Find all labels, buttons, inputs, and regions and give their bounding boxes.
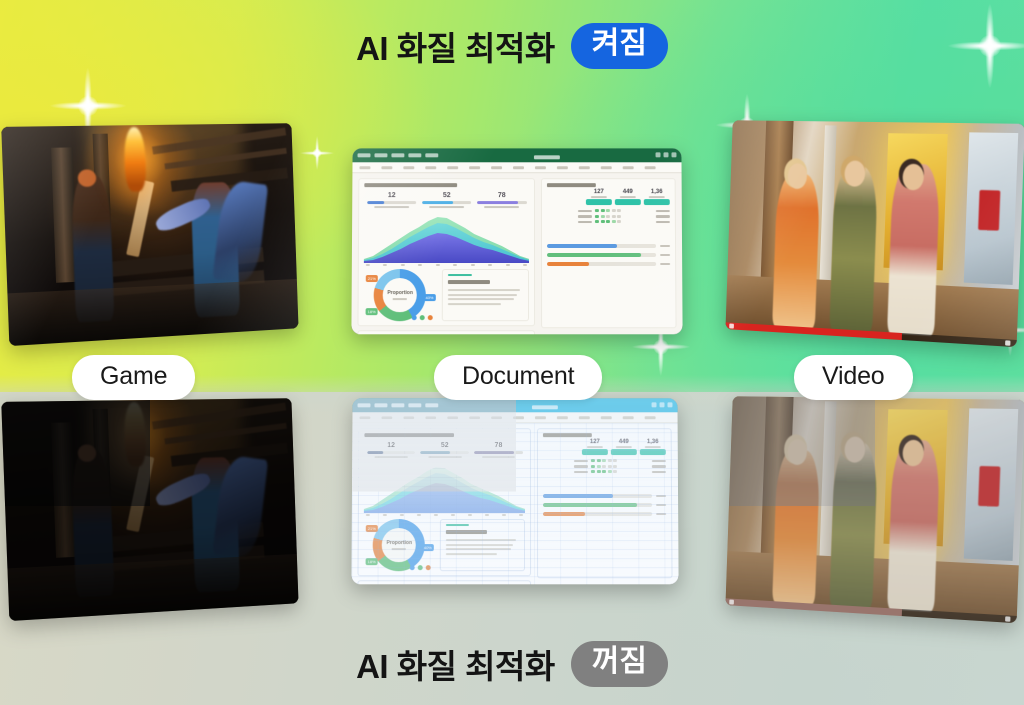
right-kpi-item: 1,36 bbox=[644, 190, 670, 206]
kpi-value: 12 bbox=[367, 443, 415, 450]
kpi-caption bbox=[374, 457, 408, 459]
kpi-item: 52 bbox=[421, 443, 469, 459]
dashboard-body: 12 52 78 bbox=[351, 174, 682, 335]
right-kpi-badge bbox=[586, 200, 612, 206]
dashboard-titlebar bbox=[352, 398, 677, 412]
game-scene-off bbox=[1, 398, 298, 621]
donut-chip: 18% bbox=[366, 309, 378, 316]
area-chart-energy bbox=[364, 212, 530, 264]
right-kpi-value: 127 bbox=[582, 440, 608, 446]
donut-chart-wrap: Proportion 21% 40% 18% bbox=[364, 269, 437, 321]
dashboard-body: 12 52 78 bbox=[351, 424, 678, 585]
right-kpi-caption bbox=[587, 447, 603, 449]
right-kpi-row: 127 449 bbox=[578, 190, 670, 206]
video-person-1 bbox=[772, 174, 820, 329]
dashboard-ribbon[interactable] bbox=[352, 412, 677, 423]
panel-game-ai-off[interactable] bbox=[1, 398, 298, 621]
dashboard-left-column: 12 52 78 bbox=[357, 429, 531, 579]
panel-video-ai-off[interactable] bbox=[725, 396, 1024, 623]
progress-item bbox=[543, 512, 666, 516]
table-row bbox=[578, 215, 670, 218]
table-row bbox=[578, 210, 670, 213]
progress-item bbox=[547, 262, 670, 266]
panel-document-ai-off[interactable]: 12 52 78 bbox=[351, 398, 678, 584]
right-kpi-caption bbox=[620, 197, 636, 199]
kpi-value: 78 bbox=[474, 443, 522, 450]
donut-center-label: Proportion bbox=[387, 291, 413, 301]
kpi-bar bbox=[367, 452, 415, 455]
window-controls[interactable] bbox=[652, 403, 673, 408]
donut-legend bbox=[411, 316, 432, 321]
video-person-2-head bbox=[844, 160, 865, 186]
table-row bbox=[578, 220, 670, 223]
ai-off-darkening-overlay bbox=[1, 398, 298, 621]
right-kpi-badge bbox=[615, 200, 641, 206]
card-title-energy-trends bbox=[364, 184, 456, 188]
game-scene-on bbox=[1, 123, 298, 346]
right-kpi-value: 449 bbox=[615, 190, 641, 196]
kpi-bar bbox=[422, 202, 472, 205]
progress-item bbox=[547, 244, 670, 248]
right-kpi-badge bbox=[640, 450, 666, 456]
area-chart-axis bbox=[364, 513, 526, 516]
right-kpi-item: 127 bbox=[582, 440, 608, 456]
heading-bottom-title: AI 화질 최적화 bbox=[356, 640, 555, 688]
kpi-value: 52 bbox=[422, 193, 472, 200]
heading-top-title: AI 화질 최적화 bbox=[356, 22, 555, 70]
window-controls[interactable] bbox=[656, 153, 677, 158]
kpi-value: 78 bbox=[477, 193, 527, 200]
right-kpi-caption bbox=[645, 447, 661, 449]
kpi-item: 78 bbox=[477, 193, 527, 209]
donut-legend bbox=[410, 566, 431, 571]
note-body bbox=[446, 540, 520, 556]
dashboard-lower-row: Proportion 21% 40% 18% bbox=[364, 269, 530, 321]
progress-item bbox=[543, 503, 666, 507]
card-energy-rates bbox=[440, 519, 526, 571]
table-row bbox=[574, 470, 666, 473]
area-chart-energy bbox=[364, 462, 526, 514]
donut-chip: 40% bbox=[422, 545, 434, 552]
video-red-object bbox=[978, 190, 1001, 231]
video-person-2 bbox=[829, 167, 878, 332]
donut-chip: 21% bbox=[366, 525, 378, 532]
progress-item bbox=[543, 494, 666, 498]
kpi-caption bbox=[428, 457, 462, 459]
right-kpi-value: 127 bbox=[586, 190, 612, 196]
dashboard-left-column: 12 52 78 bbox=[357, 179, 535, 329]
kpi-bar bbox=[477, 202, 527, 205]
kpi-bar bbox=[421, 452, 469, 455]
right-kpi-caption bbox=[649, 197, 665, 199]
card-contract-trends: 127 449 bbox=[541, 179, 676, 329]
right-kpi-row: 127 449 bbox=[574, 440, 666, 456]
mini-table bbox=[578, 210, 670, 224]
video-fullscreen-button[interactable] bbox=[1005, 341, 1010, 346]
card-percentages: 30% +2.1% 27% +1.4% 35% +3 bbox=[357, 331, 535, 335]
card-contract-trends: 127 449 bbox=[537, 429, 672, 579]
kpi-row: 12 52 78 bbox=[364, 193, 529, 209]
right-kpi-badge bbox=[644, 200, 670, 206]
note-accent bbox=[446, 524, 470, 526]
status-badge-off: 꺼짐 bbox=[571, 641, 668, 686]
ai-off-washout-overlay bbox=[725, 396, 1024, 623]
kpi-caption bbox=[484, 207, 519, 209]
dashboard-on: 12 52 78 bbox=[351, 148, 682, 334]
dashboard-right-column: 127 449 bbox=[537, 429, 672, 579]
kpi-caption bbox=[429, 207, 464, 209]
kpi-row: 12 52 78 bbox=[364, 443, 525, 459]
kpi-bar bbox=[474, 452, 522, 455]
right-kpi-badge bbox=[611, 450, 637, 456]
right-kpi-item: 1,36 bbox=[640, 440, 666, 456]
right-kpi-value: 449 bbox=[611, 440, 637, 446]
kpi-bar bbox=[367, 202, 417, 205]
right-kpi-value: 1,36 bbox=[644, 190, 670, 196]
dashboard-off: 12 52 78 bbox=[351, 398, 678, 584]
heading-ai-off: AI 화질 최적화 꺼짐 bbox=[0, 640, 1024, 688]
video-scene-on bbox=[725, 120, 1024, 347]
kpi-caption bbox=[482, 457, 516, 459]
kpi-item: 12 bbox=[367, 193, 417, 209]
kpi-value: 52 bbox=[421, 443, 469, 450]
right-kpi-badge bbox=[582, 450, 608, 456]
progress-item bbox=[547, 253, 670, 257]
mini-table bbox=[574, 460, 666, 474]
card-title-energy-trends bbox=[364, 434, 454, 438]
note-accent bbox=[448, 274, 472, 276]
card-energy-trends: 12 52 78 bbox=[357, 179, 535, 327]
progress-list bbox=[547, 244, 670, 266]
kpi-value: 12 bbox=[367, 193, 417, 200]
titlebar-menu[interactable] bbox=[358, 403, 439, 407]
right-kpi-caption bbox=[591, 197, 607, 199]
right-kpi-item: 449 bbox=[611, 440, 637, 456]
right-kpi-value: 1,36 bbox=[640, 440, 666, 446]
bar-chart-contracts bbox=[543, 442, 570, 490]
status-badge-on: 켜짐 bbox=[571, 23, 668, 68]
dashboard-lower-row: Proportion 21% 40% 18% bbox=[364, 519, 526, 571]
progress-list bbox=[543, 494, 666, 516]
donut-chip: 40% bbox=[424, 295, 436, 302]
category-pill-video[interactable]: Video bbox=[794, 355, 913, 400]
video-play-button[interactable] bbox=[730, 324, 735, 329]
donut-chip: 18% bbox=[366, 559, 378, 566]
donut-chip: 21% bbox=[366, 275, 378, 282]
note-title bbox=[446, 531, 487, 535]
kpi-item: 78 bbox=[474, 443, 522, 459]
comparison-stage: AI 화질 최적화 켜짐 bbox=[0, 0, 1024, 705]
kpi-item: 12 bbox=[367, 443, 415, 459]
area-chart-axis bbox=[364, 263, 530, 266]
note-body bbox=[448, 290, 524, 306]
heading-ai-on: AI 화질 최적화 켜짐 bbox=[0, 22, 1024, 70]
card-energy-rates bbox=[442, 269, 530, 321]
table-row bbox=[574, 465, 666, 468]
note-title bbox=[448, 281, 490, 285]
right-kpi-item: 127 bbox=[586, 190, 612, 206]
panel-video-ai-on[interactable] bbox=[725, 120, 1024, 347]
kpi-caption bbox=[374, 207, 409, 209]
titlebar-menu[interactable] bbox=[358, 153, 439, 157]
card-percentages: 30% +2.1% 27% +1.4% 35% +3 bbox=[357, 581, 531, 585]
donut-center-label: Proportion bbox=[386, 541, 412, 551]
right-kpi-caption bbox=[616, 447, 632, 449]
donut-chart-wrap: Proportion 21% 40% 18% bbox=[364, 519, 435, 571]
right-kpi-item: 449 bbox=[615, 190, 641, 206]
dashboard-titlebar bbox=[353, 148, 682, 162]
dashboard-right-column: 127 449 bbox=[541, 179, 676, 329]
bar-chart-contracts bbox=[547, 192, 574, 240]
panel-document-ai-on[interactable]: 12 52 78 bbox=[351, 148, 682, 334]
kpi-item: 52 bbox=[422, 193, 472, 209]
card-energy-trends: 12 52 78 bbox=[357, 429, 531, 577]
table-row bbox=[574, 460, 666, 463]
panel-game-ai-on[interactable] bbox=[1, 123, 298, 346]
video-scene-off bbox=[725, 396, 1024, 623]
category-pill-document[interactable]: Document bbox=[434, 355, 602, 400]
dashboard-ribbon[interactable] bbox=[352, 162, 681, 173]
category-pill-game[interactable]: Game bbox=[72, 355, 195, 400]
